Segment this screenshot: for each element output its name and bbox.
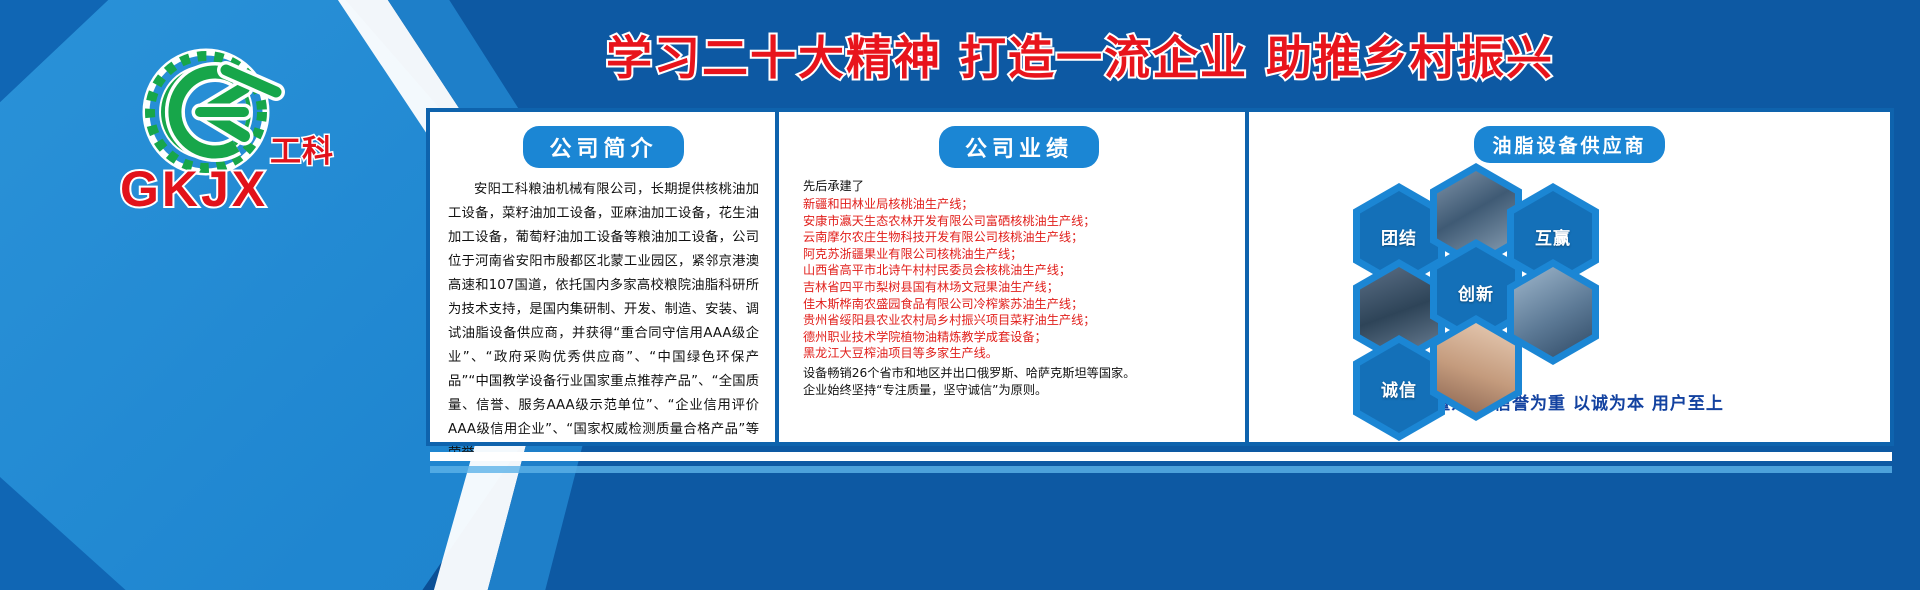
performance-project-item: 德州职业技术学院植物油精炼教学成套设备； [803, 329, 1235, 346]
performance-project-item: 新疆和田林业局核桃油生产线； [803, 196, 1235, 213]
poster-headline: 学习二十大精神 打造一流企业 助推乡村振兴 [430, 22, 1730, 88]
panel-title-company-performance: 公司业绩 [939, 126, 1099, 168]
performance-summary-line: 企业始终坚持“专注质量，坚守诚信”为原则。 [803, 382, 1235, 399]
poster-canvas: 工科 GKJX 学习二十大精神 打造一流企业 助推乡村振兴 公司简介 安阳工科粮… [0, 0, 1920, 590]
hex-label: 互赢 [1535, 224, 1571, 249]
performance-project-item: 黑龙江大豆榨油项目等多家生产线。 [803, 345, 1235, 362]
performance-project-item: 吉林省四平市梨树县国有林场文冠果油生产线； [803, 279, 1235, 296]
logo-chinese-text: 工科 [270, 126, 334, 171]
performance-summary-text: 设备畅销26个省市和地区并出口俄罗斯、哈萨克斯坦等国家。企业始终坚持“专注质量，… [803, 365, 1235, 398]
company-logo: 工科 GKJX [118, 48, 328, 233]
hex-label: 诚信 [1381, 376, 1417, 401]
hexagon-cluster: 团结 互赢 创新 [1267, 173, 1872, 385]
logo-english-text: GKJX [120, 160, 268, 218]
content-slab: 公司简介 安阳工科粮油机械有限公司，长期提供核桃油加工设备，菜籽油加工设备，亚麻… [430, 112, 1890, 442]
panel-company-profile: 公司简介 安阳工科粮油机械有限公司，长期提供核桃油加工设备，菜籽油加工设备，亚麻… [430, 112, 775, 442]
gear-e-icon [140, 48, 290, 176]
performance-project-item: 云南摩尔农庄生物科技开发有限公司核桃油生产线； [803, 229, 1235, 246]
performance-project-item: 安康市瀛天生态农林开发有限公司富硒核桃油生产线； [803, 213, 1235, 230]
hex-label: 团结 [1381, 224, 1417, 249]
hex-inner [1514, 267, 1592, 357]
bottom-white-stripe [430, 452, 1892, 461]
performance-lead-text: 先后承建了 [803, 178, 1235, 194]
company-profile-body: 安阳工科粮油机械有限公司，长期提供核桃油加工设备，菜籽油加工设备，亚麻油加工设备… [448, 178, 759, 466]
bottom-blue-stripe [430, 466, 1892, 473]
performance-project-list: 新疆和田林业局核桃油生产线；安康市瀛天生态农林开发有限公司富硒核桃油生产线；云南… [803, 196, 1235, 362]
performance-project-item: 阿克苏浙疆果业有限公司核桃油生产线； [803, 246, 1235, 263]
hex-label: 创新 [1458, 280, 1494, 305]
panel-supplier: 油脂设备供应商 团结 互赢 [1245, 112, 1890, 442]
panel-company-performance: 公司业绩 先后承建了 新疆和田林业局核桃油生产线；安康市瀛天生态农林开发有限公司… [775, 112, 1245, 442]
panel-title-company-profile: 公司简介 [523, 126, 683, 168]
panel-title-supplier: 油脂设备供应商 [1474, 126, 1664, 163]
performance-project-item: 佳木斯桦南农盛园食品有限公司冷榨紫苏油生产线； [803, 296, 1235, 313]
hex-inner [1437, 323, 1515, 413]
performance-project-item: 贵州省绥阳县农业农村局乡村振兴项目菜籽油生产线； [803, 312, 1235, 329]
performance-project-item: 山西省高平市北诗午村村民委员会核桃油生产线； [803, 262, 1235, 279]
performance-summary-line: 设备畅销26个省市和地区并出口俄罗斯、哈萨克斯坦等国家。 [803, 365, 1235, 382]
